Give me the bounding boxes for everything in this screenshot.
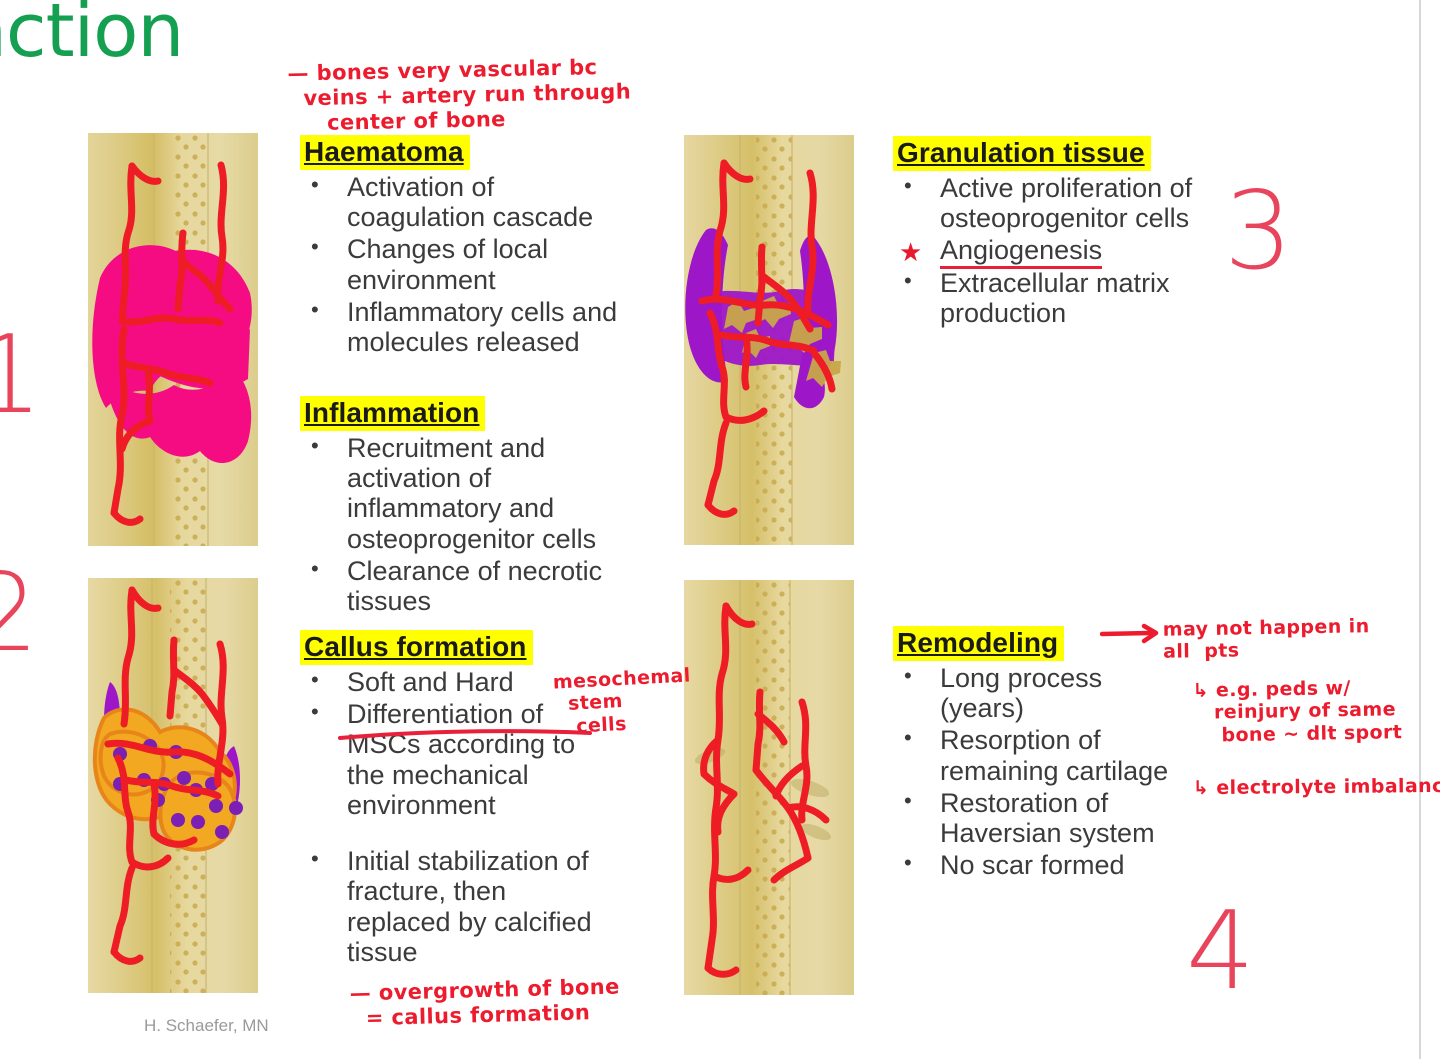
list-item: • Active proliferation of osteoprogenito… [893,173,1203,233]
bullet-list-inflammation: • Recruitment and activation of inflamma… [300,433,635,616]
bullet-text: Extracellular matrix production [940,268,1170,328]
bullet-dot-icon: • [904,172,912,201]
bullet-dot-icon: • [311,555,319,584]
bullet-text: No scar formed [940,850,1125,880]
bullet-list-remodeling: • Long process (years) • Resorption of r… [893,663,1193,881]
annotation-remodeling-note-2: ↳ e.g. peds w/ reinjury of same bone ~ d… [1192,676,1402,747]
bullet-dot-icon: • [311,296,319,325]
list-item: • Restoration of Haversian system [893,788,1193,848]
annotation-arrow-icon [1100,618,1170,648]
bullet-dot-icon: • [904,267,912,296]
list-item: • No scar formed [893,850,1193,880]
bone-figure-granulation [684,135,854,545]
section-remodeling: Remodeling • Long process (years) • Reso… [893,626,1193,883]
bullet-text: Angiogenesis [940,235,1102,269]
section-haematoma: Haematoma • Activation of coagulation ca… [300,135,630,359]
bullet-text: Restoration of Haversian system [940,788,1155,848]
annotation-msc-underline [338,726,598,744]
bullet-dot-icon: • [311,666,319,695]
bullet-dot-icon: • [904,787,912,816]
bullet-list-haematoma: • Activation of coagulation cascade • Ch… [300,172,630,357]
bullet-text: Soft and Hard [347,667,514,697]
list-item: • Inflammatory cells and molecules relea… [300,297,630,357]
bullet-text: Changes of local environment [347,234,548,294]
bone-figure-remodeling [684,580,854,995]
section-granulation-tissue: Granulation tissue • Active proliferatio… [893,136,1203,330]
bullet-text: Clearance of necrotic tissues [347,556,602,616]
section-inflammation: Inflammation • Recruitment and activatio… [300,396,635,618]
bullet-list-granulation-tissue: • Active proliferation of osteoprogenito… [893,173,1203,328]
bullet-dot-icon: • [904,849,912,878]
list-item: • Long process (years) [893,663,1193,723]
slide-canvas: nction [0,0,1440,1059]
page-edge-line [1419,0,1421,1059]
list-item: • Extracellular matrix production [893,268,1203,328]
red-star-icon: ★ [899,236,922,270]
bone-figure-haematoma [88,133,258,546]
annotation-remodeling-note-1: may not happen in all pts [1163,615,1370,663]
annotation-callus-note: — overgrowth of bone = callus formation [349,974,620,1031]
bullet-dot-icon: • [311,845,319,874]
step-number-3: 3 [1224,178,1293,286]
bullet-dot-icon: • [311,698,319,727]
section-heading-granulation-tissue: Granulation tissue [893,136,1151,171]
list-item: • Activation of coagulation cascade [300,172,630,232]
bullet-dot-icon: • [311,233,319,262]
step-number-4: 4 [1186,898,1255,1006]
bullet-text: Resorption of remaining cartilage [940,725,1168,785]
bullet-text: Activation of coagulation cascade [347,172,593,232]
list-item: • Recruitment and activation of inflamma… [300,433,635,554]
section-heading-remodeling: Remodeling [893,626,1064,661]
bullet-text: Long process (years) [940,663,1102,723]
bullet-text: Recruitment and activation of inflammato… [347,433,596,554]
step-number-1: 1 [0,322,43,430]
bullet-dot-icon: • [904,724,912,753]
bullet-text: Differentiation of MSCs according to the… [347,699,575,820]
section-heading-callus-formation: Callus formation [300,630,533,665]
section-heading-haematoma: Haematoma [300,135,470,170]
list-item: • Resorption of remaining cartilage [893,725,1193,785]
list-item: • Initial stabilization of fracture, the… [300,846,600,967]
section-heading-inflammation: Inflammation [300,396,485,431]
bullet-dot-icon: • [311,171,319,200]
list-item: • Changes of local environment [300,234,630,294]
bullet-text: Active proliferation of osteoprogenitor … [940,173,1192,233]
bullet-text: Inflammatory cells and molecules release… [347,297,617,357]
bullet-dot-icon: • [311,432,319,461]
list-item: • Clearance of necrotic tissues [300,556,635,616]
author-credit: H. Schaefer, MN [144,1016,269,1036]
step-number-2: 2 [0,560,39,668]
bullet-dot-icon: • [904,662,912,691]
bone-figure-callus [88,578,258,993]
annotation-electrolyte-note: ↳ electrolyte imbalance [1193,775,1440,800]
page-title: nction [0,0,183,74]
list-item-angiogenesis: ★ Angiogenesis [893,235,1203,265]
bullet-text: Initial stabilization of fracture, then … [347,846,592,967]
annotation-vascular-note: — bones very vascular bc veins + artery … [287,54,632,135]
